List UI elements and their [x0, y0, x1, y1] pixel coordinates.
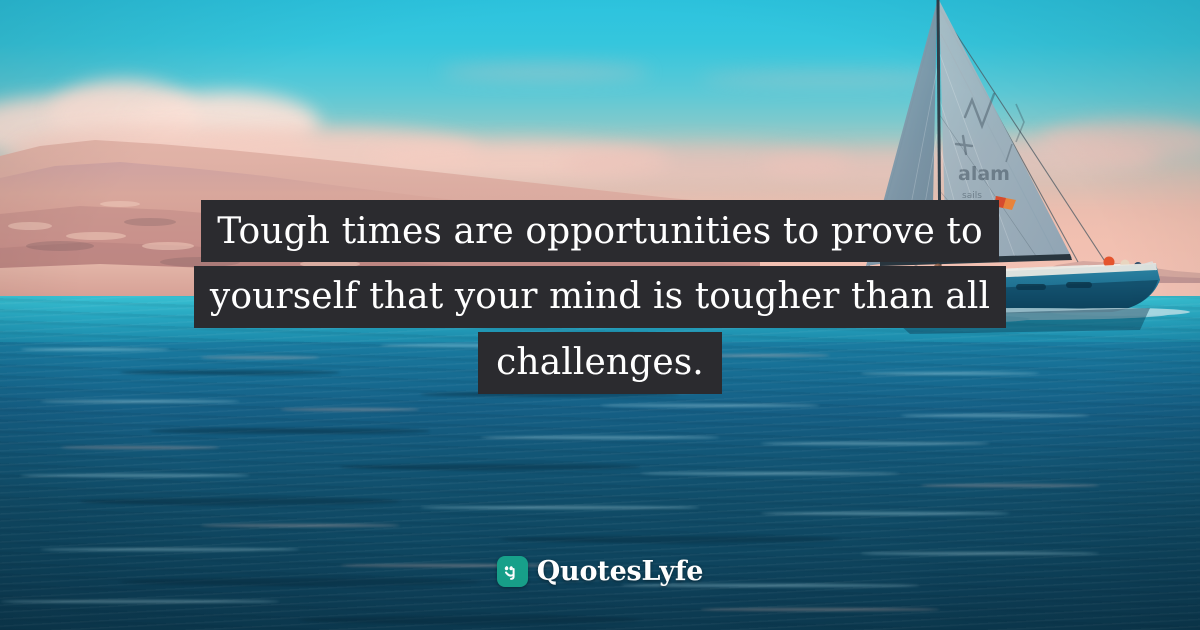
quote-block: Tough times are opportunities to prove t…: [0, 200, 1200, 394]
brand-name: QuotesLyfe: [537, 556, 704, 587]
quote-line-3: challenges.: [478, 332, 722, 394]
quoteslyfe-logo-icon[interactable]: [497, 556, 528, 587]
quote-line-2: yourself that your mind is tougher than …: [194, 266, 1006, 328]
quote-card: alam sails: [0, 0, 1200, 630]
quote-line-row-1: Tough times are opportunities to prove t…: [0, 200, 1200, 262]
quote-line-row-3: challenges.: [0, 332, 1200, 394]
brand-watermark[interactable]: QuotesLyfe: [0, 556, 1200, 587]
svg-text:alam: alam: [958, 163, 1010, 185]
quote-line-1: Tough times are opportunities to prove t…: [201, 200, 999, 262]
quote-line-row-2: yourself that your mind is tougher than …: [0, 266, 1200, 328]
